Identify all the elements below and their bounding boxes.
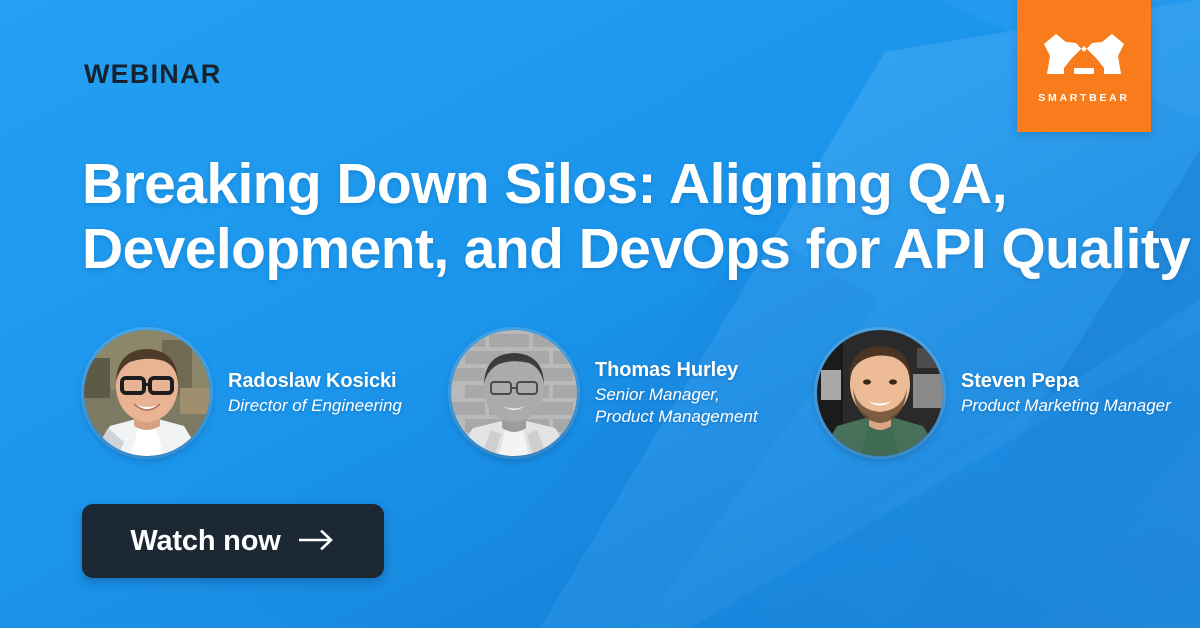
- smartbear-bear-icon: [1042, 30, 1126, 85]
- speaker-item: Radoslaw Kosicki Director of Engineering: [84, 330, 402, 456]
- avatar-steven-pepa: [817, 330, 943, 456]
- avatar-thomas-hurley: [451, 330, 577, 456]
- smartbear-logo: SMARTBEAR: [1017, 0, 1151, 132]
- speaker-role-line: Senior Manager,: [595, 384, 758, 406]
- speakers-list: Radoslaw Kosicki Director of Engineering: [84, 330, 1169, 460]
- speaker-name: Thomas Hurley: [595, 358, 758, 384]
- smartbear-wordmark: SMARTBEAR: [1038, 93, 1129, 104]
- watch-now-button[interactable]: Watch now: [82, 504, 384, 578]
- speaker-role-line: Product Management: [595, 406, 758, 428]
- page-title-line-2: Development, and DevOps for API Quality: [82, 217, 1177, 282]
- speaker-item: Thomas Hurley Senior Manager, Product Ma…: [451, 330, 758, 456]
- page-title-line-1: Breaking Down Silos: Aligning QA,: [82, 152, 1177, 217]
- speaker-item: Steven Pepa Product Marketing Manager: [817, 330, 1171, 456]
- webinar-promo-banner: WEBINAR Breaking Down Silos: Aligning QA…: [0, 0, 1200, 628]
- avatar-radoslaw-kosicki: [84, 330, 210, 456]
- speaker-role-line: Product Marketing Manager: [961, 395, 1171, 417]
- watch-now-label: Watch now: [130, 525, 280, 558]
- speaker-text: Steven Pepa Product Marketing Manager: [961, 369, 1171, 416]
- speaker-name: Radoslaw Kosicki: [228, 369, 402, 395]
- speaker-text: Thomas Hurley Senior Manager, Product Ma…: [595, 358, 758, 427]
- speaker-name: Steven Pepa: [961, 369, 1171, 395]
- arrow-right-icon: [298, 529, 336, 554]
- eyebrow-label: WEBINAR: [84, 61, 221, 88]
- page-title: Breaking Down Silos: Aligning QA, Develo…: [82, 152, 1177, 282]
- speaker-text: Radoslaw Kosicki Director of Engineering: [228, 369, 402, 416]
- speaker-role-line: Director of Engineering: [228, 395, 402, 417]
